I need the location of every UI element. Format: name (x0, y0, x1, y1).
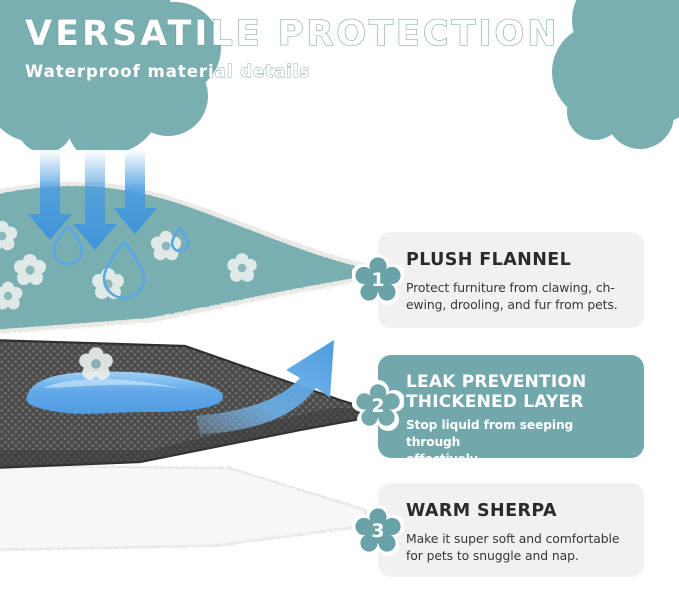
feature-card-plush-flannel[interactable]: PLUSH FLANNEL Protect furniture from cla… (378, 232, 644, 328)
card-title-2-line1: LEAK PREVENTION (406, 372, 586, 392)
step-number-1: 1 (352, 254, 404, 306)
card-body-3: Make it super soft and comfortable for p… (406, 530, 624, 564)
card-title-2-line2: THICKENED LAYER (406, 392, 584, 412)
card-title-3: WARM SHERPA (406, 501, 624, 521)
step-badge-1: 1 (352, 254, 404, 306)
card-body-1: Protect furniture from clawing, ch- ewin… (406, 279, 624, 313)
infographic-page: VERSATILE PROTECTION Waterproof material… (0, 0, 679, 604)
card-body-1-line1: Protect furniture from clawing, ch- (406, 280, 615, 295)
card-body-3-line1: Make it super soft and comfortable (406, 531, 619, 546)
feature-panels: PLUSH FLANNEL Protect furniture from cla… (0, 0, 679, 604)
step-badge-2: 2 (352, 380, 404, 432)
card-body-2: Stop liquid from seeping through effecti… (406, 417, 624, 467)
feature-card-warm-sherpa[interactable]: WARM SHERPA Make it super soft and comfo… (378, 483, 644, 577)
step-badge-3: 3 (352, 505, 404, 557)
card-title-1: PLUSH FLANNEL (406, 250, 624, 270)
feature-card-leak-prevention[interactable]: LEAK PREVENTION THICKENED LAYER Stop liq… (378, 355, 644, 458)
card-body-2-line2: effectively. (406, 452, 481, 466)
card-body-2-line1: Stop liquid from seeping through (406, 418, 573, 449)
card-title-2: LEAK PREVENTION THICKENED LAYER (406, 373, 624, 412)
step-number-3: 3 (352, 505, 404, 557)
card-body-3-line2: for pets to snuggle and nap. (406, 548, 579, 563)
step-number-2: 2 (352, 380, 404, 432)
card-body-1-line2: ewing, drooling, and fur from pets. (406, 297, 618, 312)
